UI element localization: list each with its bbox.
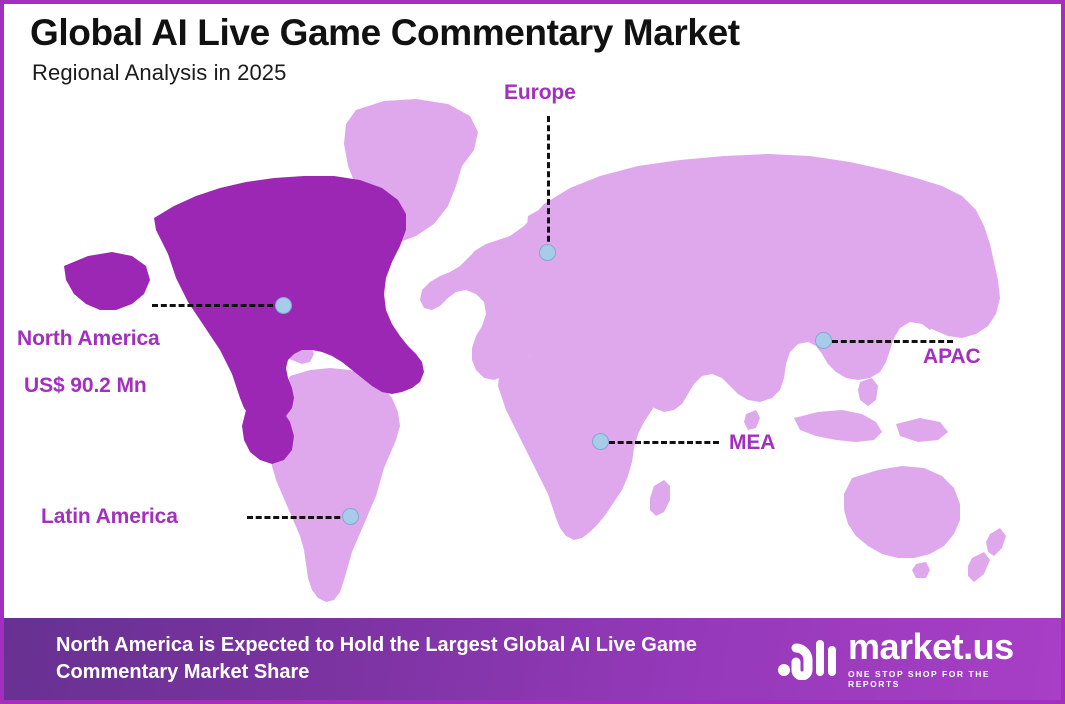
leader-line-mea bbox=[609, 441, 719, 444]
region-label-north-america: North America bbox=[17, 327, 160, 351]
map-marker-latin-america[interactable] bbox=[342, 508, 359, 525]
logo-text: market.us ONE STOP SHOP FOR THE REPORTS bbox=[848, 629, 1029, 689]
region-indonesia bbox=[794, 410, 882, 442]
page-title: Global AI Live Game Commentary Market bbox=[30, 12, 740, 55]
logo-tagline: ONE STOP SHOP FOR THE REPORTS bbox=[848, 669, 1029, 689]
leader-line-apac bbox=[832, 340, 953, 343]
header: Global AI Live Game Commentary Market Re… bbox=[30, 12, 740, 86]
region-value-north-america: US$ 90.2 Mn bbox=[24, 374, 147, 398]
region-label-mea: MEA bbox=[729, 431, 775, 455]
leader-line-europe bbox=[547, 116, 550, 251]
region-tasmania bbox=[912, 562, 930, 578]
bar-chart-logo-icon bbox=[776, 634, 838, 685]
region-new-zealand bbox=[986, 528, 1006, 556]
region-new-zealand-south bbox=[968, 552, 990, 582]
footer-banner: North America is Expected to Hold the La… bbox=[4, 618, 1061, 700]
infographic-root: Global AI Live Game Commentary Market Re… bbox=[0, 0, 1065, 704]
footer-caption: North America is Expected to Hold the La… bbox=[56, 632, 776, 686]
world-map bbox=[4, 66, 1061, 622]
map-marker-mea[interactable] bbox=[592, 433, 609, 450]
region-madagascar bbox=[650, 480, 670, 516]
map-marker-apac[interactable] bbox=[815, 332, 832, 349]
map-marker-north-america[interactable] bbox=[275, 297, 292, 314]
region-label-latin-america: Latin America bbox=[41, 505, 178, 529]
page-subtitle: Regional Analysis in 2025 bbox=[32, 60, 740, 86]
region-philippines bbox=[858, 378, 878, 406]
leader-line-north-america bbox=[152, 304, 282, 307]
region-papua bbox=[896, 418, 948, 442]
region-label-apac: APAC bbox=[923, 345, 981, 369]
region-sri-lanka bbox=[744, 410, 760, 430]
region-australia bbox=[844, 466, 960, 558]
leader-line-latin-america bbox=[247, 516, 349, 519]
map-marker-europe[interactable] bbox=[539, 244, 556, 261]
world-map-svg bbox=[4, 66, 1061, 622]
market-us-logo[interactable]: market.us ONE STOP SHOP FOR THE REPORTS bbox=[776, 629, 1029, 689]
logo-wordmark: market.us bbox=[848, 629, 1014, 665]
region-africa bbox=[498, 354, 660, 540]
